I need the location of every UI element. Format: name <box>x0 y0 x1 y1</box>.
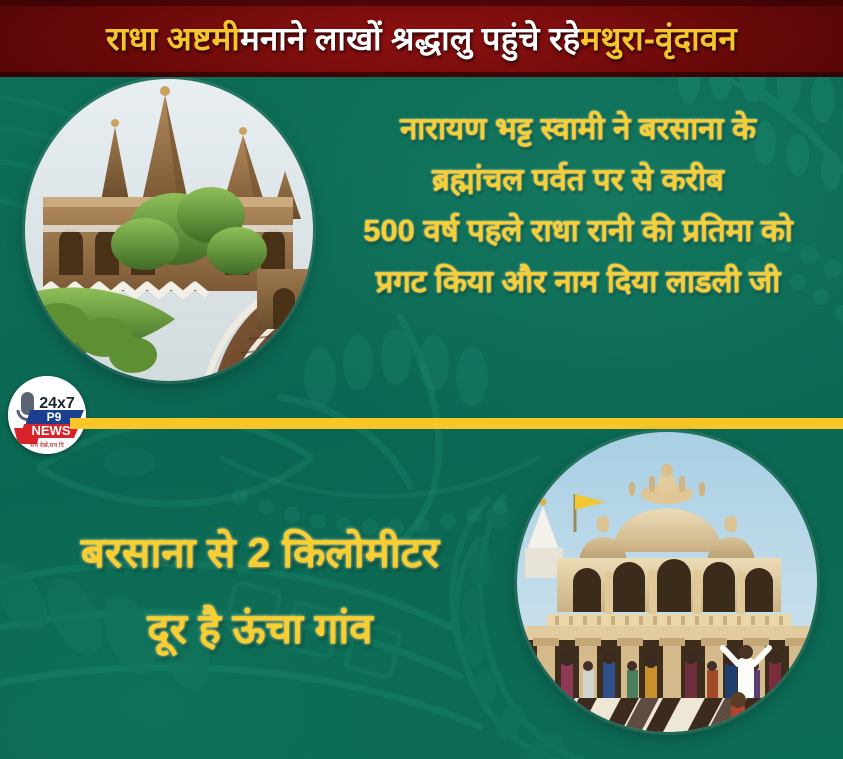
yellow-divider <box>70 418 843 429</box>
radha-rani-temple-photo <box>517 432 817 732</box>
poster-canvas: नारायण भट्ट स्वामी ने बरसाना के ब्रह्मां… <box>0 77 843 759</box>
headline-bar: राधा अष्टमी मनाने लाखों श्रद्धालु पहुंचे… <box>0 0 843 77</box>
bottom-copy-block: बरसाना से 2 किलोमीटर दूर है ऊंचा गांव <box>0 532 520 650</box>
top-copy-line-4: प्रगट किया और नाम दिया लाडली जी <box>318 266 838 297</box>
24x7-p9-news-logo[interactable]: P9 24x7 P9 NEWS सच देखें,सच दि <box>8 376 86 454</box>
temple-hillside-illustration <box>25 79 313 381</box>
bottom-copy-line-1: बरसाना से 2 किलोमीटर <box>0 532 520 574</box>
svg-text:सच देखें,सच दि: सच देखें,सच दि <box>30 441 64 449</box>
top-copy-line-1: नारायण भट्ट स्वामी ने बरसाना के <box>318 113 838 144</box>
logo-artwork: P9 24x7 P9 NEWS सच देखें,सच दि <box>8 376 86 454</box>
svg-text:P9: P9 <box>47 410 62 424</box>
top-copy-line-3: 500 वर्ष पहले राधा रानी की प्रतिमा को <box>318 215 838 246</box>
headline-segment-2: मनाने लाखों श्रद्धालु पहुंचे रहे <box>240 22 580 55</box>
top-copy-line-2: ब्रह्मांचल पर्वत पर से करीब <box>318 164 838 195</box>
headline-segment-3: मथुरा-वृंदावन <box>580 22 737 55</box>
headline-segment-1: राधा अष्टमी <box>106 22 240 55</box>
news-poster: राधा अष्टमी मनाने लाखों श्रद्धालु पहुंचे… <box>0 0 843 759</box>
bottom-copy-line-2: दूर है ऊंचा गांव <box>0 608 520 650</box>
radha-rani-temple-illustration <box>517 432 817 732</box>
svg-text:NEWS: NEWS <box>32 423 71 438</box>
top-copy-block: नारायण भट्ट स्वामी ने बरसाना के ब्रह्मां… <box>318 113 838 297</box>
headline-text: राधा अष्टमी मनाने लाखों श्रद्धालु पहुंचे… <box>0 0 843 77</box>
temple-hillside-photo <box>25 79 313 381</box>
